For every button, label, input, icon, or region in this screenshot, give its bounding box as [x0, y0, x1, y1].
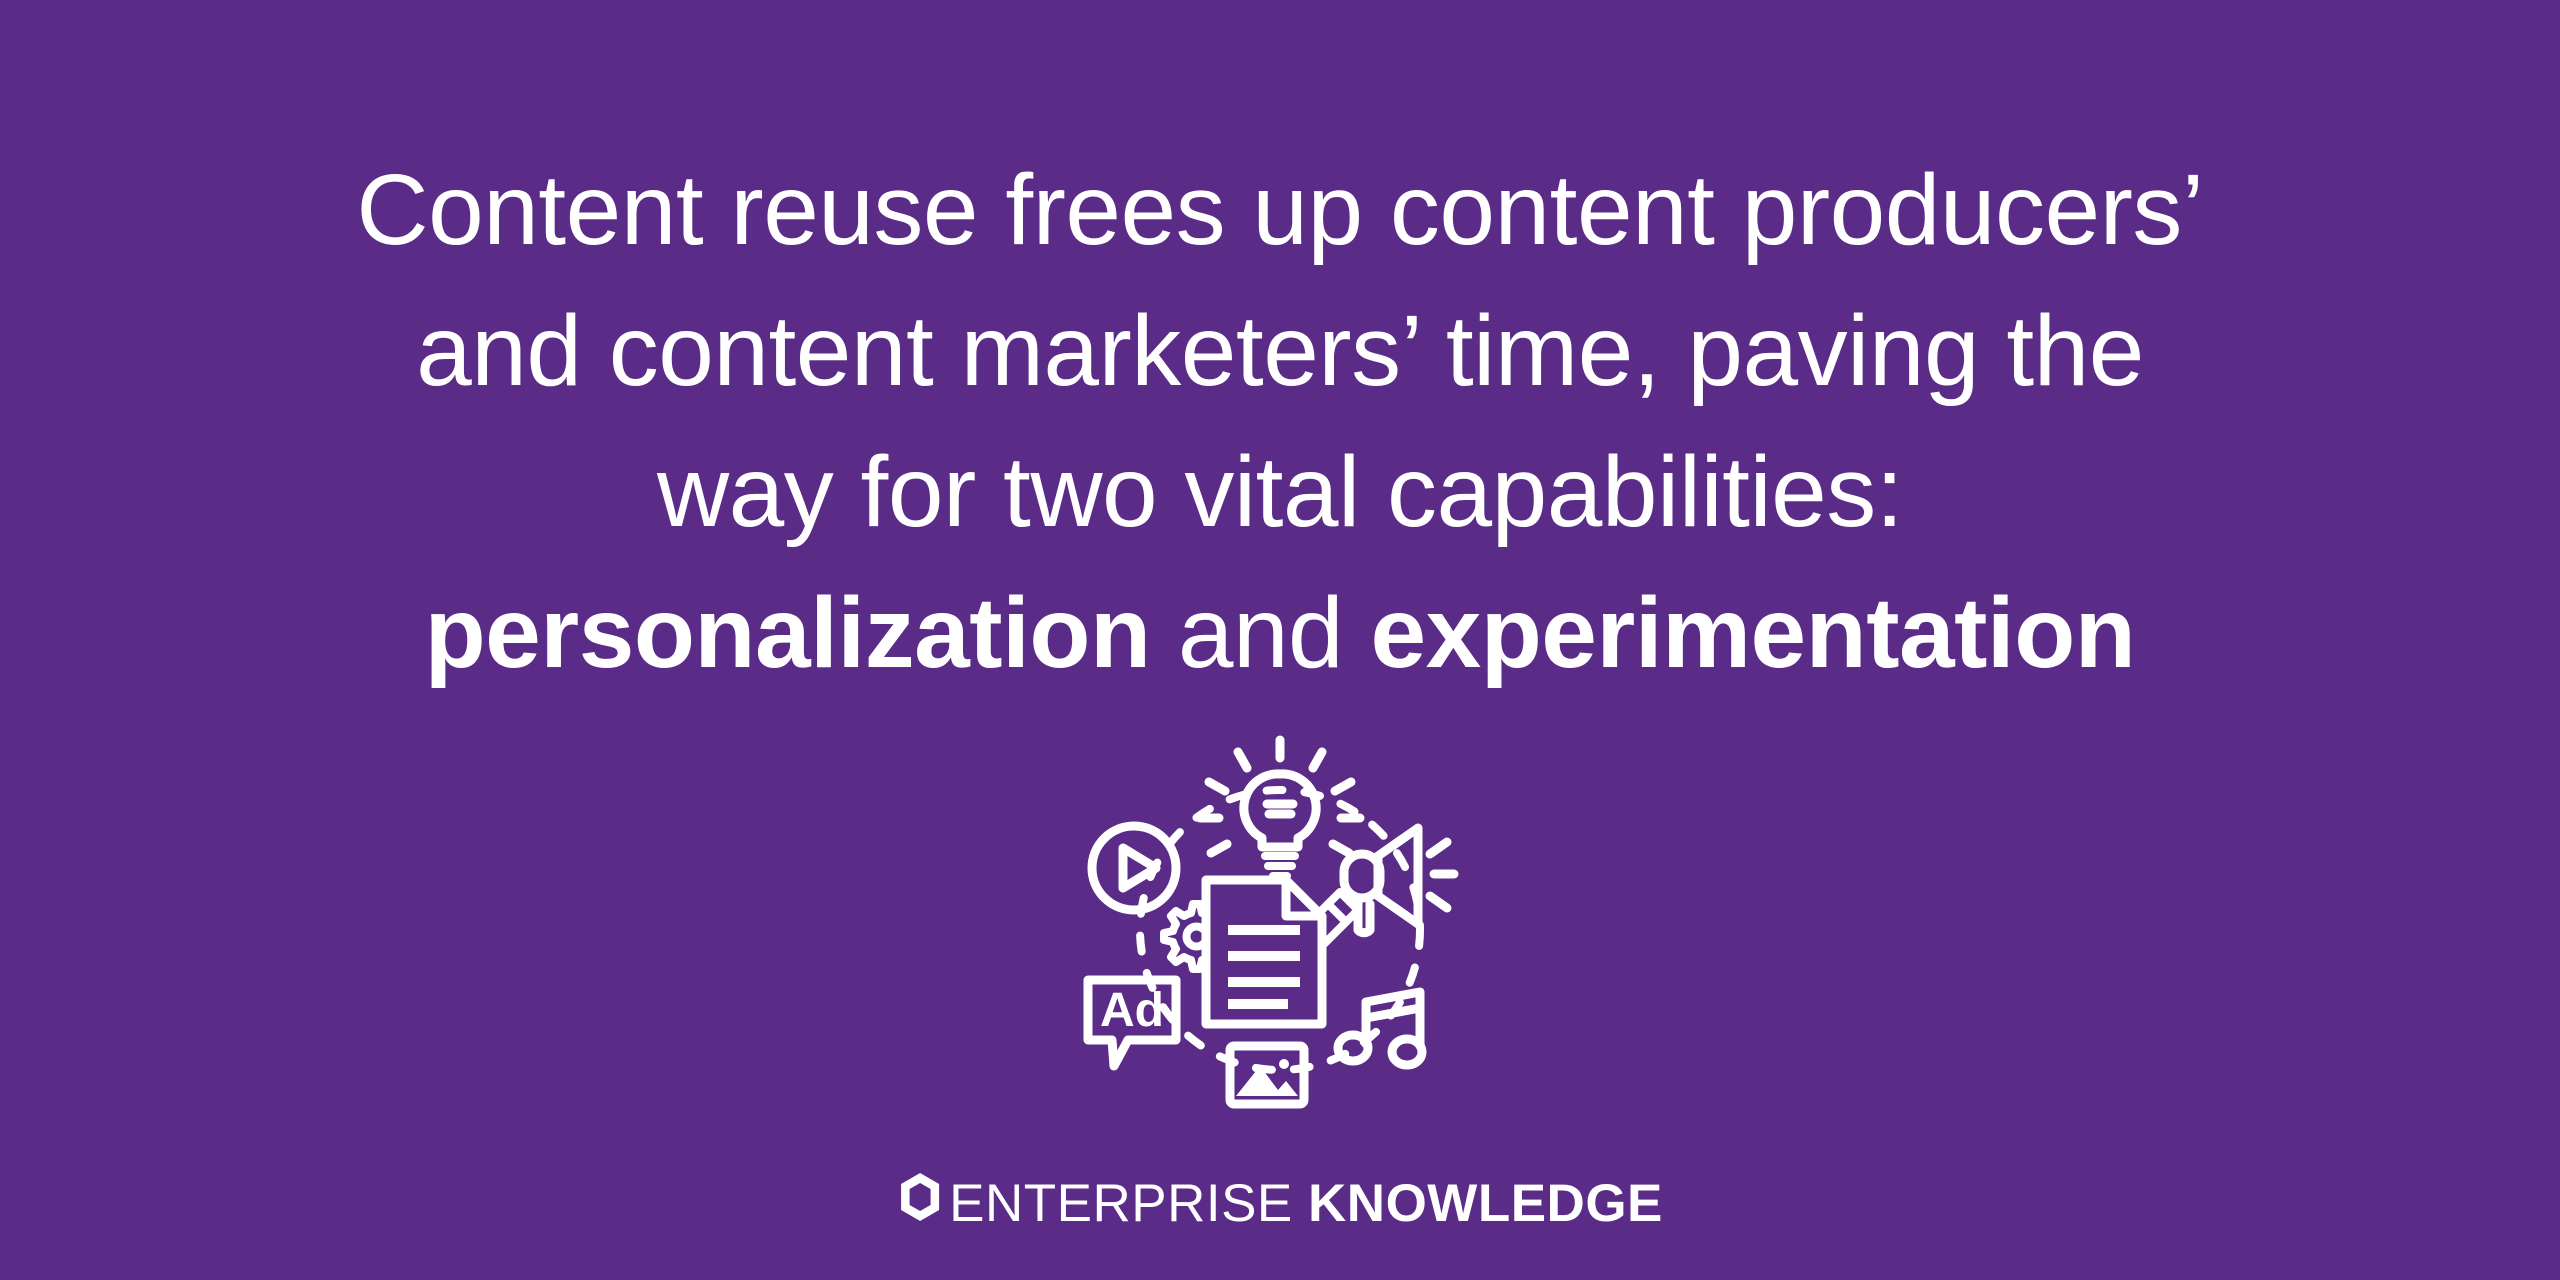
- brand-logo: ENTERPRISE KNOWLEDGE: [897, 1177, 1663, 1230]
- headline-line-4: personalization and experimentation: [190, 563, 2370, 704]
- megaphone-waves: [1430, 842, 1454, 908]
- brand-word-knowledge: KNOWLEDGE: [1308, 1174, 1663, 1233]
- brand-word-spacer: [1293, 1174, 1308, 1233]
- image-icon: [1230, 1046, 1304, 1104]
- brand-logo-text: ENTERPRISE KNOWLEDGE: [949, 1177, 1663, 1230]
- page-title: Content reuse frees up content producers…: [190, 140, 2370, 704]
- headline-line-2: and content marketers’ time, paving the: [190, 281, 2370, 422]
- brand-word-enterprise: ENTERPRISE: [949, 1174, 1293, 1233]
- headline-line-1: Content reuse frees up content producers…: [190, 140, 2370, 281]
- illustration-svg: Ad: [1070, 734, 1490, 1124]
- headline-emphasis-experimentation: experimentation: [1370, 577, 2135, 689]
- lightbulb-icon: [1200, 740, 1360, 876]
- megaphone-icon: [1344, 828, 1454, 933]
- music-note-icon: [1338, 992, 1422, 1065]
- hexagon-logo-icon: [897, 1171, 943, 1223]
- ad-bubble-icon: Ad: [1088, 980, 1176, 1066]
- document-icon: [1206, 880, 1322, 1024]
- lightbulb-rays: [1200, 740, 1360, 853]
- headline-conjunction: and: [1151, 577, 1371, 689]
- slide-canvas: Content reuse frees up content producers…: [0, 0, 2560, 1280]
- headline-emphasis-personalization: personalization: [425, 577, 1151, 689]
- ad-bubble-label: Ad: [1100, 984, 1164, 1037]
- headline-line-3: way for two vital capabilities:: [190, 422, 2370, 563]
- content-ecosystem-illustration: Ad: [1070, 734, 1490, 1124]
- play-button-icon: [1092, 826, 1176, 910]
